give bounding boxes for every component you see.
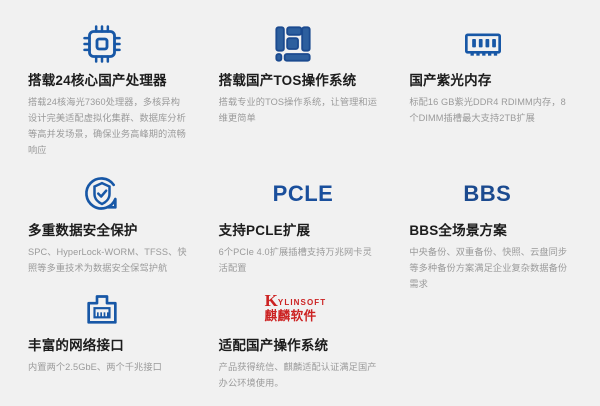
pcle-wordmark: PCLE: [219, 168, 380, 220]
feature-title: BBS全场景方案: [409, 223, 570, 239]
feature-card-memory: 国产紫光内存 标配16 GB紫光DDR4 RDIMM内存，8个DIMM插槽最大支…: [395, 18, 586, 168]
feature-description: 标配16 GB紫光DDR4 RDIMM内存，8个DIMM插槽最大支持2TB扩展: [409, 95, 570, 127]
feature-grid: 搭载24核心国产处理器 搭载24核海光7360处理器，多核异构设计完美适配虚拟化…: [14, 18, 586, 393]
kylinsoft-logo-latin: K YLINSOFT: [265, 294, 327, 308]
kylinsoft-logo-rest: YLINSOFT: [278, 299, 326, 309]
feature-title: 丰富的网络接口: [28, 338, 189, 354]
feature-description: 中央备份、双重备份、快照、云盘同步等多种备份方案满足企业复杂数据备份需求: [409, 245, 570, 292]
memory-module-icon: [409, 18, 570, 70]
kylinsoft-logo-chinese: 麒麟软件: [265, 310, 317, 324]
feature-description: SPC、HyperLock-WORM、TFSS、快照等多重技术为数据安全保驾护航: [28, 245, 189, 277]
feature-title: 多重数据安全保护: [28, 223, 189, 239]
layout-grid-icon: [219, 18, 380, 70]
feature-card-cpu: 搭载24核心国产处理器 搭载24核海光7360处理器，多核异构设计完美适配虚拟化…: [14, 18, 205, 168]
bbs-wordmark: BBS: [409, 168, 570, 220]
feature-card-security: 多重数据安全保护 SPC、HyperLock-WORM、TFSS、快照等多重技术…: [14, 168, 205, 283]
feature-card-kylin-os: K YLINSOFT 麒麟软件 适配国产操作系统 产品获得统信、麒麟适配认证满足…: [205, 283, 396, 393]
cpu-chip-icon: [28, 18, 189, 70]
ethernet-port-icon: [28, 283, 189, 335]
feature-title: 搭载国产TOS操作系统: [219, 73, 380, 89]
feature-description: 搭载24核海光7360处理器，多核异构设计完美适配虚拟化集群、数据库分析等高并发…: [28, 95, 189, 158]
feature-board: 搭载24核心国产处理器 搭载24核海光7360处理器，多核异构设计完美适配虚拟化…: [0, 0, 600, 406]
feature-title: 适配国产操作系统: [219, 338, 380, 354]
shield-check-icon: [28, 168, 189, 220]
feature-card-network: 丰富的网络接口 内置两个2.5GbE、两个千兆接口: [14, 283, 205, 393]
feature-description: 6个PCIe 4.0扩展插槽支持万兆网卡灵活配置: [219, 245, 380, 277]
feature-title: 支持PCLE扩展: [219, 223, 380, 239]
kylinsoft-logo: K YLINSOFT 麒麟软件: [219, 283, 380, 335]
feature-card-bbs: BBS BBS全场景方案 中央备份、双重备份、快照、云盘同步等多种备份方案满足企…: [395, 168, 586, 283]
feature-description: 搭载专业的TOS操作系统，让管理和运维更简单: [219, 95, 380, 127]
feature-card-tos: 搭载国产TOS操作系统 搭载专业的TOS操作系统，让管理和运维更简单: [205, 18, 396, 168]
feature-title: 国产紫光内存: [409, 73, 570, 89]
feature-description: 产品获得统信、麒麟适配认证满足国产办公环境使用。: [219, 360, 380, 392]
feature-title: 搭载24核心国产处理器: [28, 73, 189, 89]
feature-card-pcle: PCLE 支持PCLE扩展 6个PCIe 4.0扩展插槽支持万兆网卡灵活配置: [205, 168, 396, 283]
feature-description: 内置两个2.5GbE、两个千兆接口: [28, 360, 189, 376]
kylinsoft-logo-k: K: [265, 294, 278, 308]
